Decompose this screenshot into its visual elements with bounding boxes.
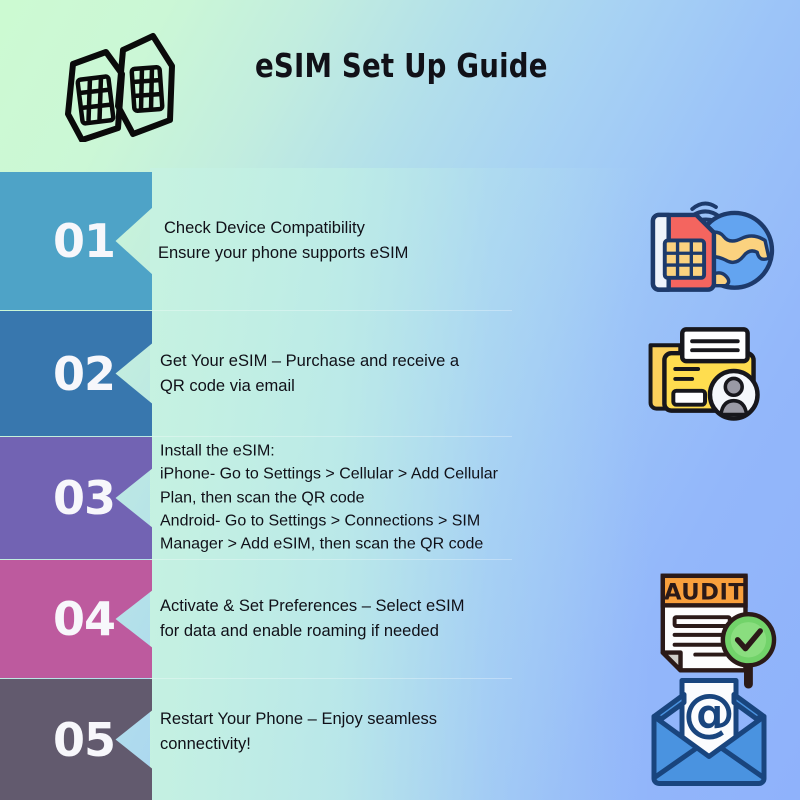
step-number-block: 02 — [0, 311, 152, 436]
step-row: 01 Check Device Compatibility Ensure you… — [0, 172, 800, 310]
step-description: Get Your eSIM – Purchase and receive a Q… — [160, 348, 580, 398]
step-number: 04 — [53, 596, 115, 642]
step-text-line: Restart Your Phone – Enjoy seamless — [160, 707, 580, 732]
esim-setup-guide-poster: eSIM Set Up Guide 01 Check Device Compat… — [0, 0, 800, 800]
step-text-line: connectivity! — [160, 732, 580, 757]
dual-sim-cards-icon — [60, 22, 185, 142]
step-text-line: Get Your eSIM – Purchase and receive a — [160, 348, 580, 373]
step-description: Install the eSIM: iPhone- Go to Settings… — [160, 440, 600, 557]
step-number: 02 — [53, 351, 115, 397]
step-text-line: Manager > Add eSIM, then scan the QR cod… — [160, 533, 600, 556]
step-number-block: 04 — [0, 560, 152, 678]
step-text-line: Android- Go to Settings > Connections > … — [160, 510, 600, 533]
step-text-line: QR code via email — [160, 374, 580, 399]
step-text-line: for data and enable roaming if needed — [160, 619, 580, 644]
step-row: 03 Install the eSIM: iPhone- Go to Setti… — [0, 437, 800, 559]
step-text-line: Check Device Compatibility — [164, 216, 584, 241]
step-row: 04 Activate & Set Preferences – Select e… — [0, 560, 800, 678]
poster-header: eSIM Set Up Guide — [0, 0, 800, 165]
step-number: 01 — [53, 218, 115, 264]
email-envelope-at-icon: @ — [644, 676, 774, 793]
step-number-block: 01 — [0, 172, 152, 310]
step-text-line: Plan, then scan the QR code — [160, 486, 600, 509]
svg-text:@: @ — [683, 683, 735, 743]
step-row: 02 Get Your eSIM – Purchase and receive … — [0, 311, 800, 436]
step-text-line: iPhone- Go to Settings > Cellular > Add … — [160, 463, 600, 486]
id-card-user-icon — [642, 319, 772, 428]
step-text-line: Install the eSIM: — [160, 440, 600, 463]
step-description: Restart Your Phone – Enjoy seamless conn… — [160, 707, 580, 757]
step-number: 05 — [53, 717, 115, 763]
step-description: Activate & Set Preferences – Select eSIM… — [160, 594, 580, 644]
step-row: 05 Restart Your Phone – Enjoy seamless c… — [0, 679, 800, 800]
step-number-block: 03 — [0, 437, 152, 559]
step-text-line: Ensure your phone supports eSIM — [158, 241, 584, 266]
page-title: eSIM Set Up Guide — [255, 46, 646, 85]
step-text-line: Activate & Set Preferences – Select eSIM — [160, 594, 580, 619]
step-number-block: 05 — [0, 679, 152, 800]
sim-card-globe-icon — [640, 180, 780, 303]
step-number: 03 — [53, 475, 115, 521]
step-description: Check Device Compatibility Ensure your p… — [164, 216, 584, 266]
